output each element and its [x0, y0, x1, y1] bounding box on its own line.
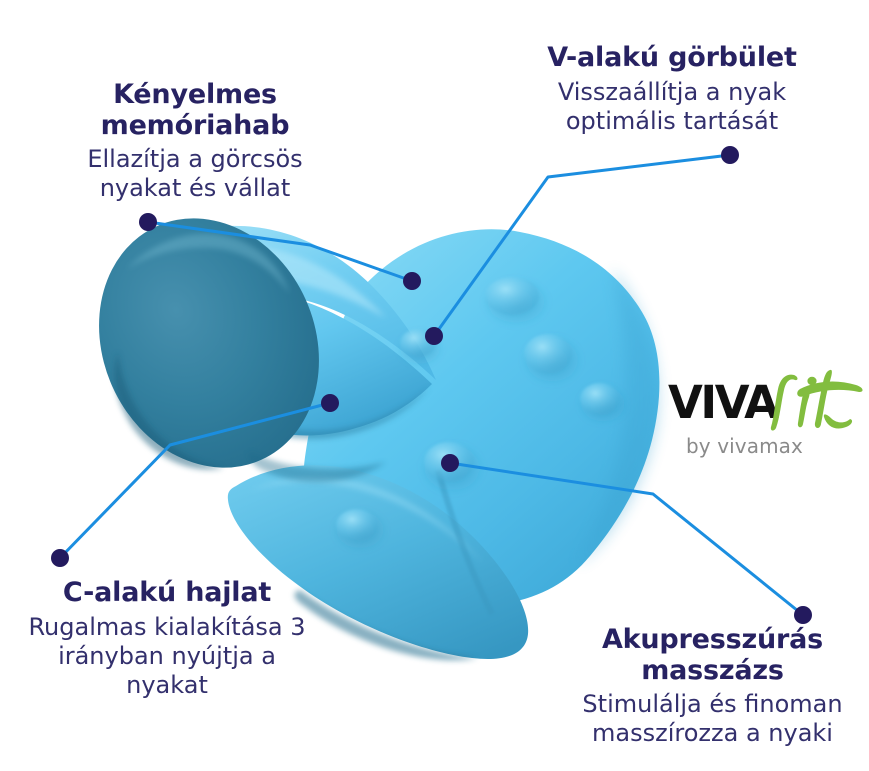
callout-acupressure: Akupresszúrás masszázs Stimulálja és fin… [556, 625, 869, 749]
callout-v-curve-body: Visszaállítja a nyak optimális tartását [512, 78, 832, 137]
callout-c-curve-body: Rugalmas kialakítása 3 irányban nyújtja … [2, 613, 332, 701]
callout-c-curve: C-alakú hajlat Rugalmas kialakítása 3 ir… [2, 578, 332, 700]
callout-acupressure-title: Akupresszúrás masszázs [556, 625, 869, 686]
product-infographic: Kényelmes memóriahab Ellazítja a görcsös… [0, 0, 869, 771]
callout-acupressure-body: Stimulálja és finoman masszírozza a nyak… [556, 690, 869, 749]
callout-c-curve-title: C-alakú hajlat [2, 578, 332, 609]
callout-memory-foam-body: Ellazítja a görcsös nyakat és vállat [40, 145, 350, 204]
brand-wordmark-primary: VIVA [668, 378, 777, 428]
brand-wordmark-script-fit [764, 367, 868, 433]
brand-wordmark: VIVA [668, 378, 868, 430]
brand-tagline: by vivamax [668, 434, 868, 458]
brand-logo: VIVA by vivamax [668, 378, 868, 458]
callout-v-curve: V-alakú görbület Visszaállítja a nyak op… [512, 43, 832, 136]
callout-v-curve-title: V-alakú görbület [512, 43, 832, 74]
callout-memory-foam-title: Kényelmes memóriahab [40, 80, 350, 141]
callout-memory-foam: Kényelmes memóriahab Ellazítja a görcsös… [40, 80, 350, 204]
